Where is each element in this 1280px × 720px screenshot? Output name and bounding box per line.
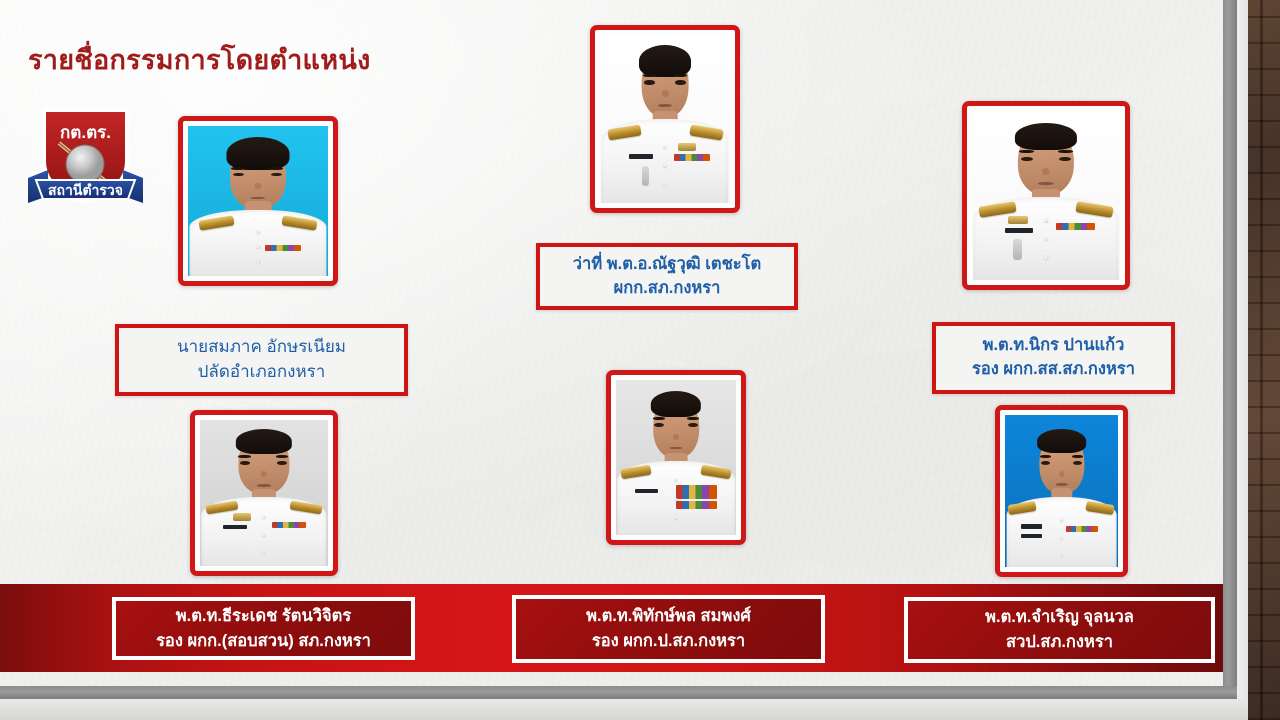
portrait-theeradet — [190, 410, 338, 576]
window-right-edge — [1223, 0, 1237, 686]
caption-natthawut: ว่าที่ พ.ต.อ.ณัฐวุฒิ เตชะโต ผกก.สภ.กงหรา — [536, 243, 798, 310]
portrait-chamroen — [995, 405, 1128, 577]
presentation-slide: รายชื่อกรรมการโดยตำแหน่ง — [0, 0, 1223, 686]
caption-name: พ.ต.ท.ธีระเดช รัตนวิจิตร — [176, 604, 352, 629]
caption-position: รอง ผกก.สส.สภ.กงหรา — [972, 358, 1135, 382]
shield-emblem-icon: กต.ตร. สถานีตำรวจ — [18, 100, 153, 212]
portrait-somphak — [178, 116, 338, 286]
caption-nikorn: พ.ต.ท.นิกร ปานแก้ว รอง ผกก.สส.สภ.กงหรา — [932, 322, 1175, 394]
caption-theeradet: พ.ต.ท.ธีระเดช รัตนวิจิตร รอง ผกก.(สอบสวน… — [112, 597, 415, 660]
page-title: รายชื่อกรรมการโดยตำแหน่ง — [28, 38, 371, 81]
police-emblem-logo: กต.ตร. สถานีตำรวจ — [18, 100, 153, 212]
window-bottom-padding — [0, 699, 1248, 720]
caption-position: รอง ผกก.(สอบสวน) สภ.กงหรา — [156, 629, 371, 654]
portrait-natthawut — [590, 25, 740, 213]
portrait-nikorn — [962, 101, 1130, 290]
caption-position: ผกก.สภ.กงหรา — [614, 277, 721, 301]
caption-position: ปลัดอำเภอกงหรา — [198, 360, 326, 385]
window-right-padding — [1237, 0, 1248, 700]
svg-text:สถานีตำรวจ: สถานีตำรวจ — [48, 182, 123, 198]
caption-name: ว่าที่ พ.ต.อ.ณัฐวุฒิ เตชะโต — [573, 253, 761, 277]
caption-name: พ.ต.ท.นิกร ปานแก้ว — [983, 334, 1125, 358]
caption-chamroen: พ.ต.ท.จำเริญ จุลนวล สวป.สภ.กงหรา — [904, 597, 1215, 663]
svg-text:กต.ตร.: กต.ตร. — [60, 123, 111, 142]
caption-position: สวป.สภ.กงหรา — [1006, 630, 1113, 655]
caption-somphak: นายสมภาค อักษรเนียม ปลัดอำเภอกงหรา — [115, 324, 408, 396]
caption-phithakphon: พ.ต.ท.พิทักษ์พล สมพงศ์ รอง ผกก.ป.สภ.กงหร… — [512, 595, 825, 663]
portrait-phithakphon — [606, 370, 746, 545]
caption-name: นายสมภาค อักษรเนียม — [177, 335, 346, 360]
caption-name: พ.ต.ท.พิทักษ์พล สมพงศ์ — [586, 604, 751, 629]
caption-position: รอง ผกก.ป.สภ.กงหรา — [592, 629, 745, 654]
caption-name: พ.ต.ท.จำเริญ จุลนวล — [985, 605, 1134, 630]
window-bottom-edge — [0, 686, 1237, 699]
